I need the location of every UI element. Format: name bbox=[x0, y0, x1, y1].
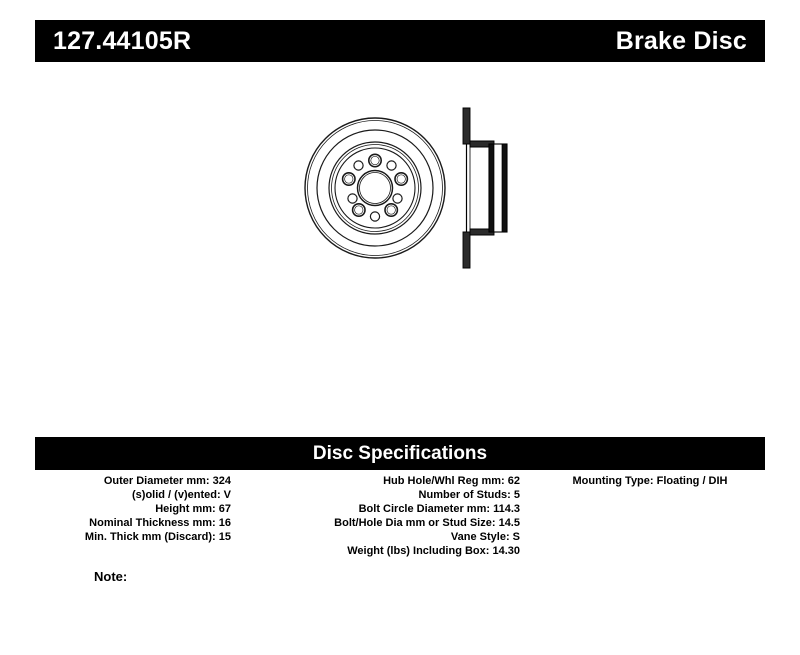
lug-hole-group bbox=[343, 154, 408, 216]
disc-outboard-plate bbox=[502, 144, 507, 232]
spec-column-middle: Hub Hole/Whl Reg mm: 62 Number of Studs:… bbox=[245, 474, 520, 558]
spec-row: (s)olid / (v)ented: V bbox=[35, 488, 231, 502]
note-label: Note: bbox=[94, 569, 127, 584]
spec-row: Bolt Circle Diameter mm: 114.3 bbox=[245, 502, 520, 516]
spec-row: Vane Style: S bbox=[245, 530, 520, 544]
brake-rotor-side-profile-view bbox=[463, 108, 507, 268]
disc-specifications-columns: Outer Diameter mm: 324 (s)olid / (v)ente… bbox=[35, 474, 765, 574]
brake-rotor-face-view bbox=[305, 118, 445, 258]
hat-flange-bottom bbox=[463, 232, 470, 268]
spec-column-left: Outer Diameter mm: 324 (s)olid / (v)ente… bbox=[35, 474, 231, 544]
spec-row: Outer Diameter mm: 324 bbox=[35, 474, 231, 488]
brake-disc-drawing-svg bbox=[280, 95, 520, 285]
spec-row: Height mm: 67 bbox=[35, 502, 231, 516]
spec-row: Mounting Type: Floating / DIH bbox=[535, 474, 765, 488]
part-number: 127.44105R bbox=[53, 29, 191, 54]
spec-row: Min. Thick mm (Discard): 15 bbox=[35, 530, 231, 544]
spec-column-right: Mounting Type: Floating / DIH bbox=[535, 474, 765, 488]
note-row: Note: bbox=[94, 570, 127, 583]
disc-inboard-plate bbox=[489, 144, 494, 232]
spec-row: Weight (lbs) Including Box: 14.30 bbox=[245, 544, 520, 558]
spec-row: Nominal Thickness mm: 16 bbox=[35, 516, 231, 530]
disc-specifications-title: Disc Specifications bbox=[313, 444, 487, 463]
disc-vent-cavity bbox=[494, 144, 502, 232]
header-bar: 127.44105R Brake Disc bbox=[35, 20, 765, 62]
hat-flange-top bbox=[463, 108, 470, 144]
brake-disc-drawing bbox=[280, 95, 520, 285]
spec-row: Bolt/Hole Dia mm or Stud Size: 14.5 bbox=[245, 516, 520, 530]
product-type-label: Brake Disc bbox=[616, 29, 747, 54]
disc-specifications-title-bar: Disc Specifications bbox=[35, 437, 765, 470]
spec-row: Hub Hole/Whl Reg mm: 62 bbox=[245, 474, 520, 488]
spec-row: Number of Studs: 5 bbox=[245, 488, 520, 502]
